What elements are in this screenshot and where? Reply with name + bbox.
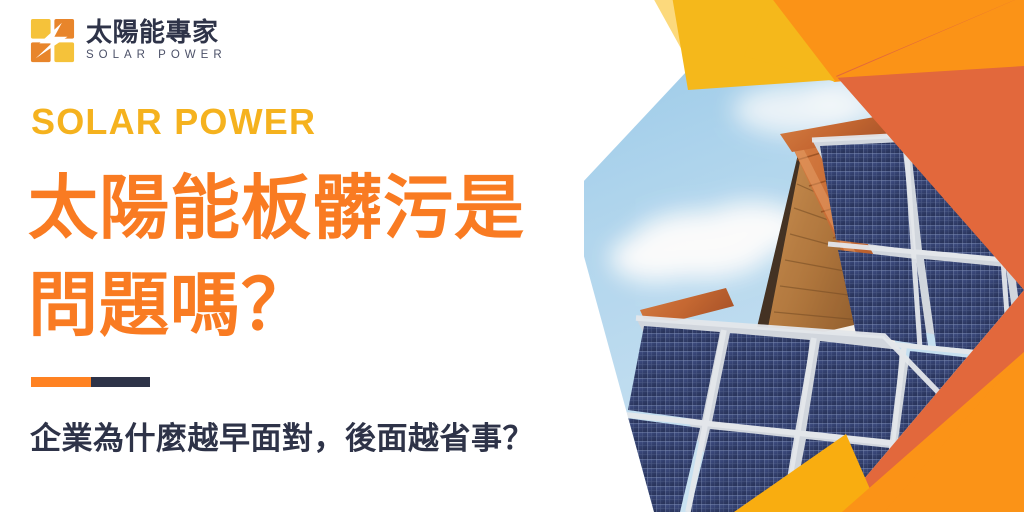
solar-power-z-mark-icon	[30, 18, 75, 63]
divider-segment-navy	[91, 377, 151, 387]
subtitle-text: 企業為什麼越早面對，後面越省事？	[30, 419, 534, 459]
headline-line-1: 太陽能板髒污是	[28, 160, 608, 257]
artwork-panel	[584, 0, 1024, 512]
eyebrow-text: SOLAR POWER	[31, 104, 316, 140]
brand-name-en: SOLAR POWER	[86, 50, 227, 62]
divider-segment-orange	[31, 377, 91, 387]
headline-line-2: 問題嗎？	[28, 257, 608, 354]
brand-lockup[interactable]: 太陽能專家 SOLAR POWER	[30, 18, 227, 63]
brand-name-cn: 太陽能專家	[86, 19, 227, 45]
accent-divider	[31, 377, 150, 387]
headline: 太陽能板髒污是 問題嗎？	[28, 160, 608, 353]
text-column: 太陽能專家 SOLAR POWER SOLAR POWER 太陽能板髒污是 問題…	[0, 0, 620, 512]
promo-banner: 太陽能專家 SOLAR POWER SOLAR POWER 太陽能板髒污是 問題…	[0, 0, 1024, 512]
